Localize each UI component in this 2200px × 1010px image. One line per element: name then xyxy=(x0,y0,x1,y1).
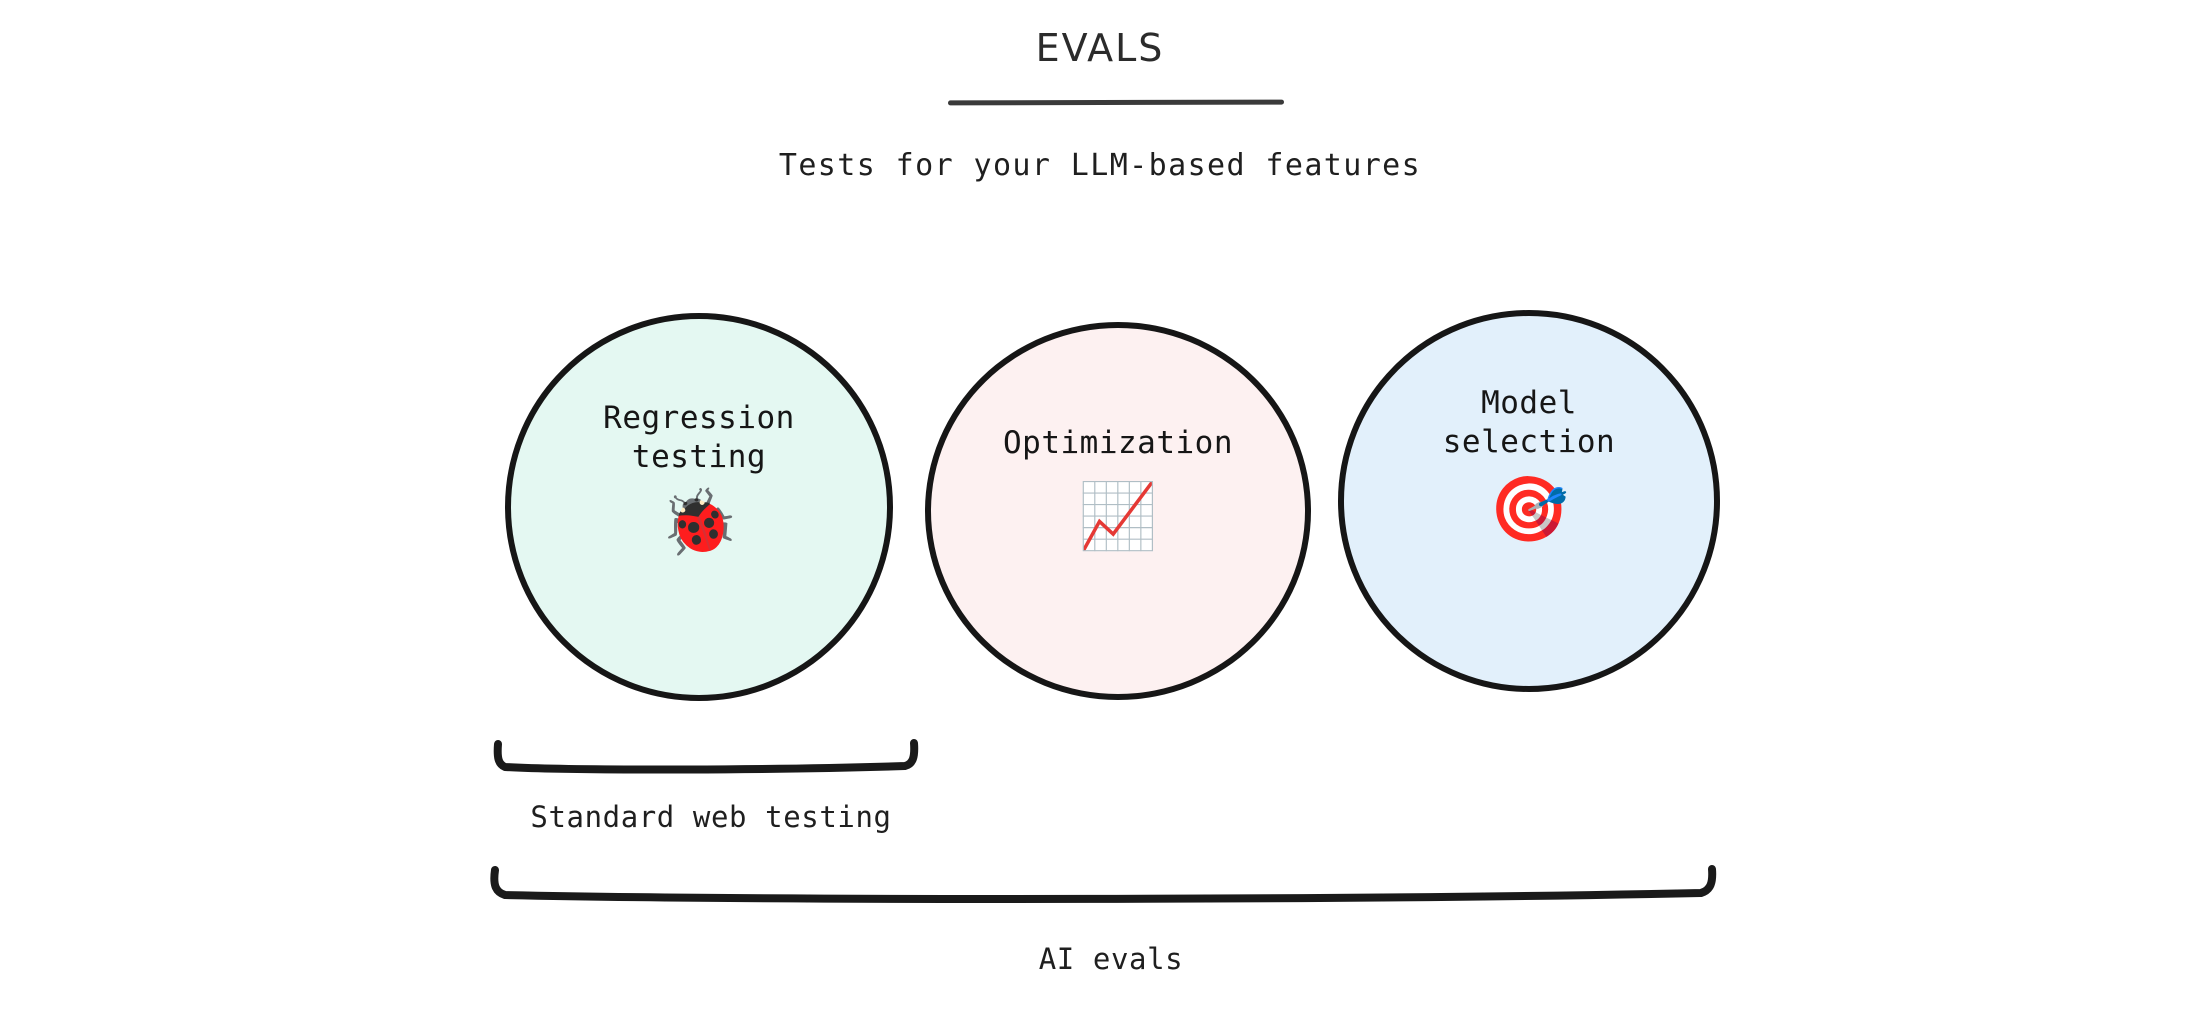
page-title: EVALS xyxy=(0,28,2200,70)
bracket-label-standard-web-testing: Standard web testing xyxy=(411,800,1011,834)
dart-target-emoji: 🎯 xyxy=(1489,478,1569,542)
bracket-standard-web-testing xyxy=(485,735,935,785)
bracket-ai-evals xyxy=(483,862,1733,912)
circle-label-model-selection: Model selection xyxy=(1443,384,1615,462)
bracket-label-ai-evals: AI evals xyxy=(811,942,1411,976)
circle-optimization: Optimization 📈 xyxy=(925,322,1311,700)
chart-increasing-emoji: 📈 xyxy=(1078,485,1158,549)
circle-label-optimization: Optimization xyxy=(1003,424,1233,463)
header: EVALS xyxy=(0,28,2200,70)
circle-model-selection: Model selection 🎯 xyxy=(1338,310,1720,692)
title-underline-rule xyxy=(948,100,1284,106)
page-subtitle: Tests for your LLM-based features xyxy=(0,148,2200,183)
bug-emoji: 🐞 xyxy=(659,491,739,555)
diagram-canvas: EVALS Tests for your LLM-based features … xyxy=(0,0,2200,1010)
circle-regression-testing: Regression testing 🐞 xyxy=(505,313,893,701)
circle-label-regression-testing: Regression testing xyxy=(603,399,795,477)
